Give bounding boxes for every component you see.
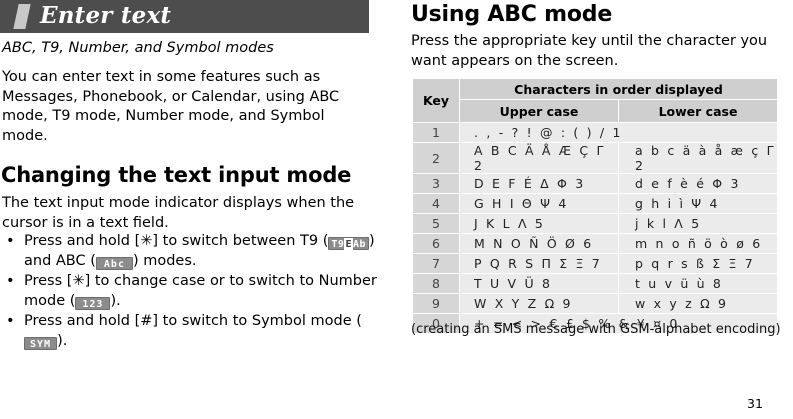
column-header-key: Key [413,79,460,123]
bullet-dot-icon: • [6,272,15,292]
bullet-text-part: ). [57,333,67,349]
cell-upper-case: J K L Λ 5 [460,214,619,234]
cell-upper-case: M N O Ñ Ö Ø 6 [460,234,619,254]
abc-mode-paragraph: Press the appropriate key until the char… [411,32,793,71]
symbol-mode-indicator-icon: SYM [24,337,57,350]
bullet-text-part: ] to switch to Symbol mode ( [152,313,362,329]
abc-mode-indicator-icon: Abc [96,257,133,270]
abc-mode-heading: Using ABC mode [411,2,612,27]
cell-key: 6 [413,234,460,254]
chapter-subtitle: ABC, T9, Number, and Symbol modes [2,40,274,56]
table-row: 9W X Y Z Ω 9w x y z Ω 9 [413,294,778,314]
t9-chip-suffix: Ab [353,239,366,250]
t9-chip-prefix: T9 [331,239,344,250]
cell-lower-case: w x y z Ω 9 [619,294,778,314]
column-header-characters: Characters in order displayed [460,79,778,100]
cell-upper-case: P Q R S Π Σ Ξ 7 [460,254,619,274]
cell-upper-case: A B C Ä Å Æ Ç Γ 2 [460,143,619,174]
chapter-title: Enter text [40,2,171,29]
right-column: Using ABC mode Press the appropriate key… [410,0,793,419]
cell-key: 5 [413,214,460,234]
star-key-icon: ✳ [72,273,84,289]
bullet-dot-icon: • [6,312,15,332]
table-row: 5J K L Λ 5j k l Λ 5 [413,214,778,234]
page-number: 31 [747,396,763,411]
table-row: 7P Q R S Π Σ Ξ 7p q r s ß Σ Ξ 7 [413,254,778,274]
cell-key: 3 [413,174,460,194]
slash-decoration-icon [13,4,30,29]
bullet-text-part: ). [110,293,120,309]
star-key-icon: ✳ [140,233,152,249]
column-header-upper-case: Upper case [460,100,619,123]
cell-key: 1 [413,123,460,143]
cell-lower-case: j k l Λ 5 [619,214,778,234]
cell-upper-case: D E F É Δ Φ 3 [460,174,619,194]
cell-lower-case: m n o ñ ö ò ø 6 [619,234,778,254]
table-header-row-top: Key Characters in order displayed [413,79,778,100]
bullet-dot-icon: • [6,232,15,252]
bullet-text-part: Press and hold [ [24,313,140,329]
table-head: Key Characters in order displayed Upper … [413,79,778,123]
list-item: •Press and hold [✳] to switch between T9… [2,232,380,271]
list-item: •Press [✳] to change case or to switch t… [2,272,380,311]
cell-lower-case: p q r s ß Σ Ξ 7 [619,254,778,274]
cell-characters: . , - ? ! @ : ( ) / 1 [460,123,778,143]
bullet-text-part: ] to switch between T9 ( [152,233,328,249]
chapter-header-bar: Enter text [0,0,369,33]
table-row: 2A B C Ä Å Æ Ç Γ 2a b c ä à å æ ç Γ 2 [413,143,778,174]
table-row: 8T U V Ü 8t u v ü ù 8 [413,274,778,294]
table-body: 1. , - ? ! @ : ( ) / 12A B C Ä Å Æ Ç Γ 2… [413,123,778,334]
cell-key: 8 [413,274,460,294]
cell-upper-case: G H I Θ Ψ 4 [460,194,619,214]
table-row: 3D E F É Δ Φ 3d e f è é Φ 3 [413,174,778,194]
t9-chip-invert: E [344,238,353,251]
cell-key: 2 [413,143,460,174]
t9-mode-indicator-icon: T9EAb [328,237,369,250]
table-header-row-bottom: Upper case Lower case [413,100,778,123]
bullet-text-part: Press and hold [ [24,233,140,249]
bullet-text-part: Press [ [24,273,72,289]
cell-key: 4 [413,194,460,214]
indicator-paragraph: The text input mode indicator displays w… [2,194,372,233]
left-column: Enter text ABC, T9, Number, and Symbol m… [0,0,396,419]
list-item: •Press and hold [#] to switch to Symbol … [2,312,380,351]
table-caption: (creating an SMS message with GSM-alphab… [411,322,786,337]
number-mode-indicator-icon: 123 [75,297,110,310]
table-row: 4G H I Θ Ψ 4g h i ì Ψ 4 [413,194,778,214]
intro-paragraph: You can enter text in some features such… [2,68,370,146]
abc-character-table: Key Characters in order displayed Upper … [412,78,778,334]
table-row: 6M N O Ñ Ö Ø 6m n o ñ ö ò ø 6 [413,234,778,254]
cell-upper-case: W X Y Z Ω 9 [460,294,619,314]
cell-lower-case: a b c ä à å æ ç Γ 2 [619,143,778,174]
bullet-text-part: ) modes. [133,253,197,269]
cell-lower-case: d e f è é Φ 3 [619,174,778,194]
table-row: 1. , - ? ! @ : ( ) / 1 [413,123,778,143]
cell-upper-case: T U V Ü 8 [460,274,619,294]
section-heading: Changing the text input mode [1,163,351,187]
cell-key: 9 [413,294,460,314]
cell-lower-case: g h i ì Ψ 4 [619,194,778,214]
column-header-lower-case: Lower case [619,100,778,123]
cell-lower-case: t u v ü ù 8 [619,274,778,294]
hash-key-icon: # [140,313,152,329]
cell-key: 7 [413,254,460,274]
mode-switch-bullet-list: •Press and hold [✳] to switch between T9… [2,232,380,352]
